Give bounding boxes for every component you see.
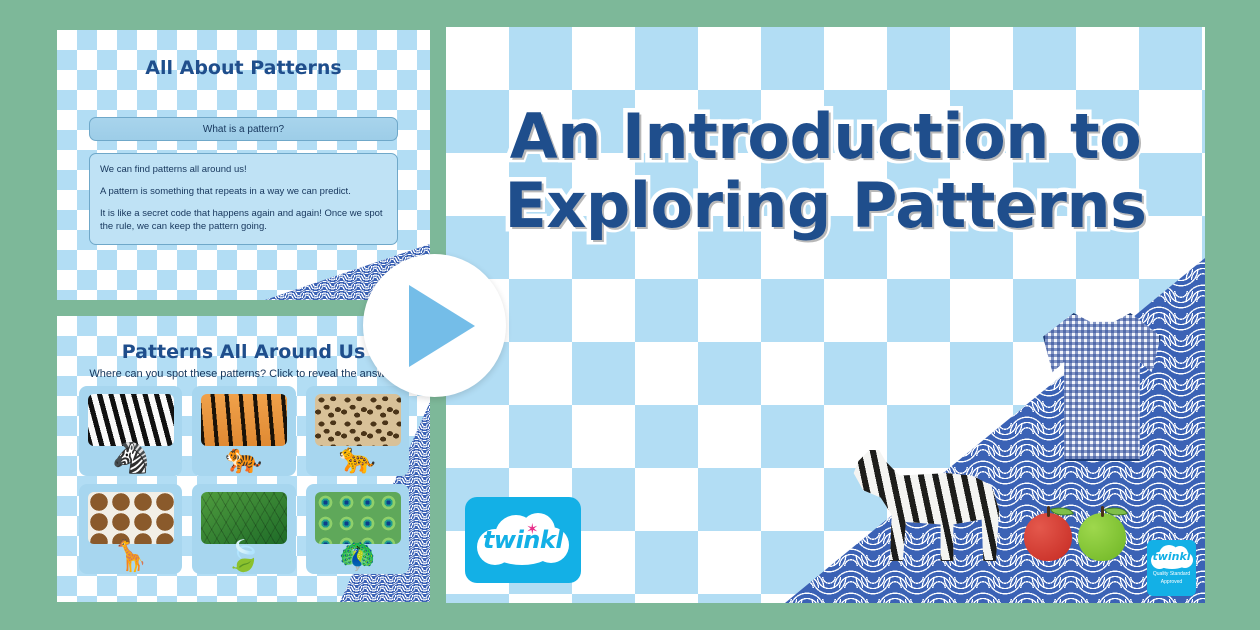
pattern-card-giraffe[interactable]: 🦒 [79, 484, 182, 574]
title-line-2: Exploring Patterns [446, 174, 1205, 237]
zebra-stripes-swatch [88, 394, 174, 446]
pattern-card-peacock[interactable]: 🦚 [306, 484, 409, 574]
apple-body [1078, 513, 1126, 561]
main-slide-preview[interactable]: An Introduction to Exploring Patterns [446, 27, 1205, 603]
badge-cloud-icon: twinkl [1151, 545, 1193, 569]
apple-stem-icon [1101, 506, 1104, 517]
main-slide-title: An Introduction to Exploring Patterns [446, 105, 1205, 237]
red-apple-illustration [1024, 513, 1072, 561]
slide-1-paragraph-3: It is like a secret code that happens ag… [100, 207, 387, 235]
gingham-shirt-illustration [1043, 313, 1161, 461]
twinkl-wordmark: twinkl [477, 526, 569, 554]
thumbnail-slide-1[interactable]: All About Patterns What is a pattern? We… [57, 30, 430, 300]
zebra-icon: 🦓 [79, 444, 182, 474]
slide-2-subtitle: Where can you spot these patterns? Click… [57, 368, 430, 380]
tiger-stripes-swatch [201, 394, 287, 446]
zebra-illustration [849, 439, 1007, 561]
slide-1-paragraph-2: A pattern is something that repeats in a… [100, 185, 387, 199]
green-apple-illustration [1078, 513, 1126, 561]
twinkl-logo: twinkl ✶ [465, 497, 581, 583]
quality-standard-badge: twinkl Quality Standard Approved [1147, 540, 1196, 596]
slide-1-title: All About Patterns [57, 57, 430, 79]
leopard-icon: 🐆 [306, 444, 409, 474]
giraffe-patches-swatch [88, 492, 174, 544]
slide-1-content: All About Patterns What is a pattern? We… [57, 30, 430, 300]
pattern-card-tiger[interactable]: 🐅 [192, 386, 295, 476]
slide-1-paragraph-1: We can find patterns all around us! [100, 163, 387, 177]
cloud-icon: twinkl ✶ [477, 513, 569, 567]
star-icon: ✶ [526, 522, 539, 537]
giraffe-icon: 🦒 [79, 542, 182, 572]
shirt-body [1043, 313, 1161, 461]
leopard-spots-swatch [315, 394, 401, 446]
badge-wordmark: twinkl [1151, 550, 1193, 563]
badge-line-1: Quality Standard [1147, 569, 1196, 577]
tiger-icon: 🐅 [192, 444, 295, 474]
play-triangle-icon [409, 285, 475, 367]
pattern-card-leopard[interactable]: 🐆 [306, 386, 409, 476]
peacock-feathers-swatch [315, 492, 401, 544]
badge-line-2: Approved [1147, 577, 1196, 585]
play-button[interactable]: Play [363, 254, 506, 397]
peacock-icon: 🦚 [306, 542, 409, 572]
pattern-card-grid: 🦓 🐅 🐆 🦒 🍃 [79, 386, 409, 574]
slide-1-question-text: What is a pattern? [203, 124, 284, 135]
pattern-card-leaf[interactable]: 🍃 [192, 484, 295, 574]
apple-body [1024, 513, 1072, 561]
leaf-icon: 🍃 [192, 542, 295, 572]
pattern-card-zebra[interactable]: 🦓 [79, 386, 182, 476]
zebra-body [849, 439, 1007, 561]
slide-1-body-box: We can find patterns all around us! A pa… [89, 153, 398, 245]
title-line-1: An Introduction to [446, 105, 1205, 168]
slide-1-question-box[interactable]: What is a pattern? [89, 117, 398, 141]
leaf-veins-swatch [201, 492, 287, 544]
page-root: An Introduction to Exploring Patterns [0, 0, 1260, 630]
apple-stem-icon [1047, 506, 1050, 517]
